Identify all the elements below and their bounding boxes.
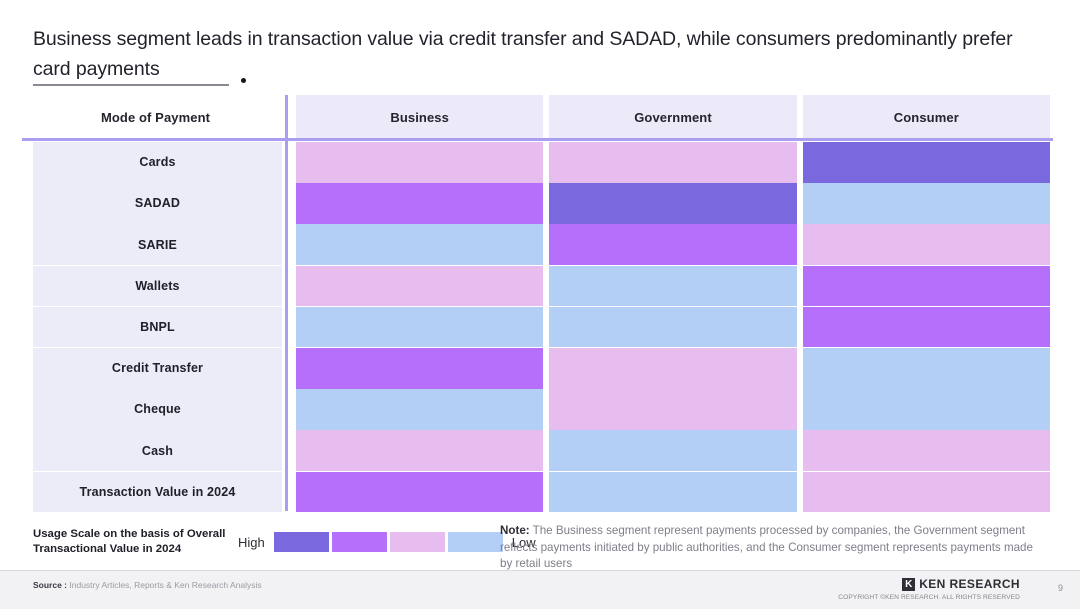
row-label-bnpl: BNPL xyxy=(33,307,282,348)
heatmap-cell xyxy=(549,142,796,183)
heatmap-cell xyxy=(549,224,796,265)
header-gap xyxy=(289,95,293,139)
heatmap-cell xyxy=(803,430,1050,471)
heatmap-cell xyxy=(803,389,1050,430)
heatmap-cell xyxy=(296,472,543,513)
title-bullet-dot xyxy=(241,78,246,83)
heatmap-cell xyxy=(549,183,796,224)
heatmap-cell xyxy=(549,348,796,389)
row-gap xyxy=(289,307,293,348)
heatmap-cell xyxy=(296,348,543,389)
heatmap-cell xyxy=(296,430,543,471)
row-label-wallets: Wallets xyxy=(33,266,282,307)
row-gap xyxy=(289,142,293,183)
row-label-credit-transfer: Credit Transfer xyxy=(33,348,282,389)
row-gap xyxy=(289,266,293,307)
legend-swatch-high xyxy=(274,532,329,552)
column-header-consumer: Consumer xyxy=(803,95,1050,139)
row-gap xyxy=(289,348,293,389)
heatmap-cell xyxy=(549,472,796,513)
table-row: Wallets xyxy=(22,266,1053,307)
title-underline xyxy=(33,84,229,86)
heatmap-cell xyxy=(296,224,543,265)
table-row: BNPL xyxy=(22,307,1053,348)
heatmap-cell xyxy=(296,266,543,307)
column-header-mode-of-payment: Mode of Payment xyxy=(22,95,289,139)
header-divider-rule xyxy=(22,138,1053,141)
heatmap-cell xyxy=(803,472,1050,513)
legend-swatch-low xyxy=(448,532,503,552)
note-text: The Business segment represent payments … xyxy=(500,524,1033,570)
page-title: Business segment leads in transaction va… xyxy=(33,24,1033,84)
copyright-text: COPYRIGHT ©KEN RESEARCH. ALL RIGHTS RESE… xyxy=(838,594,1020,601)
table-row: Cards xyxy=(22,142,1053,183)
source-line: Source : Industry Articles, Reports & Ke… xyxy=(33,580,262,590)
row-label-cash: Cash xyxy=(33,430,282,471)
heatmap-cell xyxy=(296,389,543,430)
brand-name: KEN RESEARCH xyxy=(919,577,1020,591)
ken-research-logo-icon: K xyxy=(902,578,915,591)
row-gap xyxy=(289,183,293,224)
table-row: Credit Transfer xyxy=(22,348,1053,389)
payment-usage-heatmap: Mode of Payment Business Government Cons… xyxy=(22,95,1053,513)
legend-swatches xyxy=(274,532,503,552)
row-label-sarie: SARIE xyxy=(33,224,282,265)
legend-title: Usage Scale on the basis of Overall Tran… xyxy=(33,527,233,557)
heatmap-cell xyxy=(549,307,796,348)
row-label-sadad: SADAD xyxy=(33,183,282,224)
usage-scale-legend: Usage Scale on the basis of Overall Tran… xyxy=(33,527,536,557)
table-row: SADAD xyxy=(22,183,1053,224)
table-row: Transaction Value in 2024 xyxy=(22,472,1053,513)
title-block: Business segment leads in transaction va… xyxy=(33,24,1033,84)
heatmap-cell xyxy=(803,183,1050,224)
heatmap-cell xyxy=(803,142,1050,183)
row-label-cards: Cards xyxy=(33,142,282,183)
table-row: Cheque xyxy=(22,389,1053,430)
column-header-business: Business xyxy=(296,95,543,139)
brand-block: K KEN RESEARCH COPYRIGHT ©KEN RESEARCH. … xyxy=(838,577,1020,601)
table-row: SARIE xyxy=(22,224,1053,265)
heatmap-cell xyxy=(549,430,796,471)
source-label: Source : xyxy=(33,580,67,590)
heatmap-cell xyxy=(296,183,543,224)
column-header-government: Government xyxy=(549,95,796,139)
footer-bar: Source : Industry Articles, Reports & Ke… xyxy=(0,570,1080,609)
page-number: 9 xyxy=(1058,583,1063,593)
legend-high-label: High xyxy=(238,535,265,550)
heatmap-cell xyxy=(296,142,543,183)
heatmap-cell xyxy=(803,348,1050,389)
heatmap-cell xyxy=(803,266,1050,307)
row-label-transaction-value-in-2024: Transaction Value in 2024 xyxy=(33,472,282,513)
note-block: Note: The Business segment represent pay… xyxy=(500,523,1045,573)
heatmap-cell xyxy=(803,307,1050,348)
brand-row: K KEN RESEARCH xyxy=(838,577,1020,591)
row-gap xyxy=(289,389,293,430)
heatmap-cell xyxy=(549,266,796,307)
heatmap-cell xyxy=(296,307,543,348)
legend-swatch-medium-high xyxy=(332,532,387,552)
legend-swatch-medium-low xyxy=(390,532,445,552)
row-gap xyxy=(289,430,293,471)
table-body: CardsSADADSARIEWalletsBNPLCredit Transfe… xyxy=(22,142,1053,513)
note-prefix: Note: xyxy=(500,524,530,537)
row-label-cheque: Cheque xyxy=(33,389,282,430)
row-gap xyxy=(289,472,293,513)
table-row: Cash xyxy=(22,430,1053,471)
heatmap-cell xyxy=(803,224,1050,265)
row-gap xyxy=(289,224,293,265)
heatmap-cell xyxy=(549,389,796,430)
source-text: Industry Articles, Reports & Ken Researc… xyxy=(67,580,262,590)
table-header-row: Mode of Payment Business Government Cons… xyxy=(22,95,1053,139)
